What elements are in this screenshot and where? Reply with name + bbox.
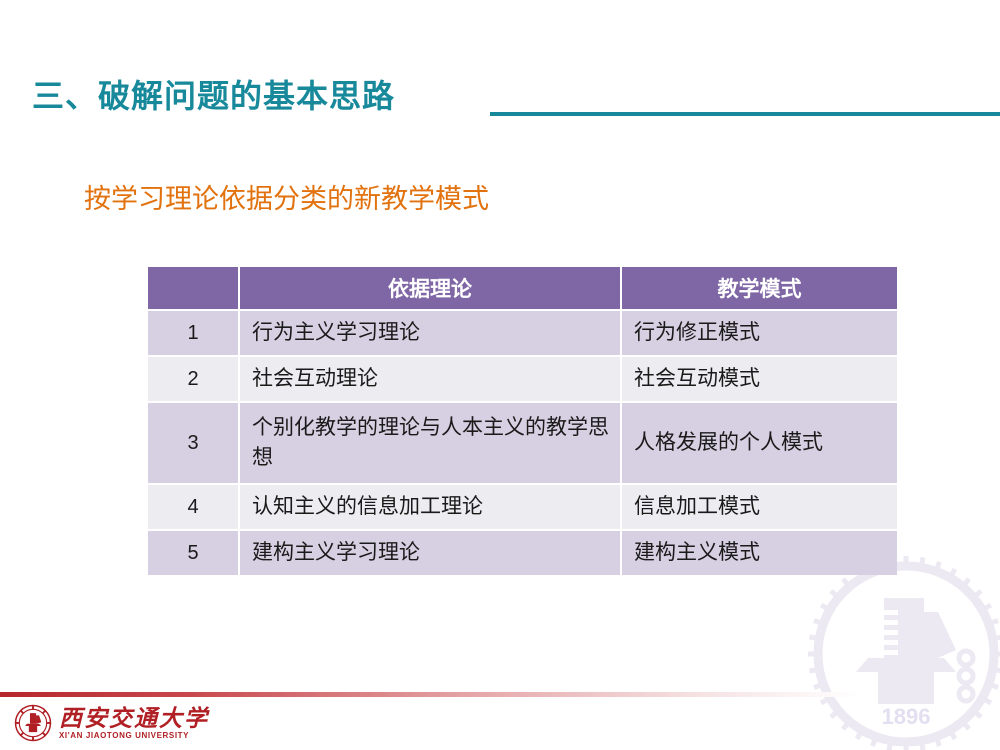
cell-theory: 认知主义的信息加工理论 — [240, 485, 620, 529]
university-logo: 西安交通大学 XI'AN JIAOTONG UNIVERSITY — [14, 702, 209, 744]
cell-mode: 社会互动模式 — [622, 357, 897, 401]
cell-theory: 社会互动理论 — [240, 357, 620, 401]
cell-index: 3 — [148, 403, 238, 483]
cell-theory: 行为主义学习理论 — [240, 311, 620, 355]
table-row: 1 行为主义学习理论 行为修正模式 — [148, 311, 897, 355]
book-icon — [862, 610, 898, 655]
cell-mode: 信息加工模式 — [622, 485, 897, 529]
university-seal-icon — [14, 704, 52, 742]
teaching-mode-table: 依据理论 教学模式 1 行为主义学习理论 行为修正模式 2 社会互动理论 社会互… — [146, 265, 899, 577]
university-logo-text: 西安交通大学 XI'AN JIAOTONG UNIVERSITY — [59, 706, 209, 741]
cell-theory: 建构主义学习理论 — [240, 531, 620, 575]
gear-ring-icon — [808, 556, 1000, 750]
table-row: 5 建构主义学习理论 建构主义模式 — [148, 531, 897, 575]
slide-canvas: 1896 三、破解问题的基本思路 按学习理论依据分类的新教学模式 依据理论 教学… — [0, 0, 1000, 750]
table-row: 4 认知主义的信息加工理论 信息加工模式 — [148, 485, 897, 529]
university-name-en: XI'AN JIAOTONG UNIVERSITY — [59, 731, 209, 741]
title-underline-rule — [490, 112, 1000, 116]
cell-mode: 人格发展的个人模式 — [622, 403, 897, 483]
cell-index: 1 — [148, 311, 238, 355]
footer-divider-rule — [0, 692, 860, 697]
table-header-row: 依据理论 教学模式 — [148, 267, 897, 309]
cell-index: 2 — [148, 357, 238, 401]
page-title: 三、破解问题的基本思路 — [32, 76, 395, 116]
table-row: 2 社会互动理论 社会互动模式 — [148, 357, 897, 401]
column-header-mode: 教学模式 — [622, 267, 897, 309]
cell-theory: 个别化教学的理论与人本主义的教学思想 — [240, 403, 620, 483]
university-name-cn: 西安交通大学 — [59, 706, 209, 731]
column-header-index — [148, 267, 238, 309]
emblem-year-label: 1896 — [882, 704, 931, 729]
slide-subtitle: 按学习理论依据分类的新教学模式 — [84, 182, 489, 216]
anvil-icon — [856, 598, 956, 704]
cell-index: 5 — [148, 531, 238, 575]
cell-mode: 建构主义模式 — [622, 531, 897, 575]
title-block: 三、破解问题的基本思路 — [0, 76, 1000, 124]
table-row: 3 个别化教学的理论与人本主义的教学思想 人格发展的个人模式 — [148, 403, 897, 483]
cell-mode: 行为修正模式 — [622, 311, 897, 355]
cell-index: 4 — [148, 485, 238, 529]
university-emblem-watermark: 1896 — [806, 554, 1000, 750]
column-header-theory: 依据理论 — [240, 267, 620, 309]
chain-icon — [959, 651, 973, 701]
